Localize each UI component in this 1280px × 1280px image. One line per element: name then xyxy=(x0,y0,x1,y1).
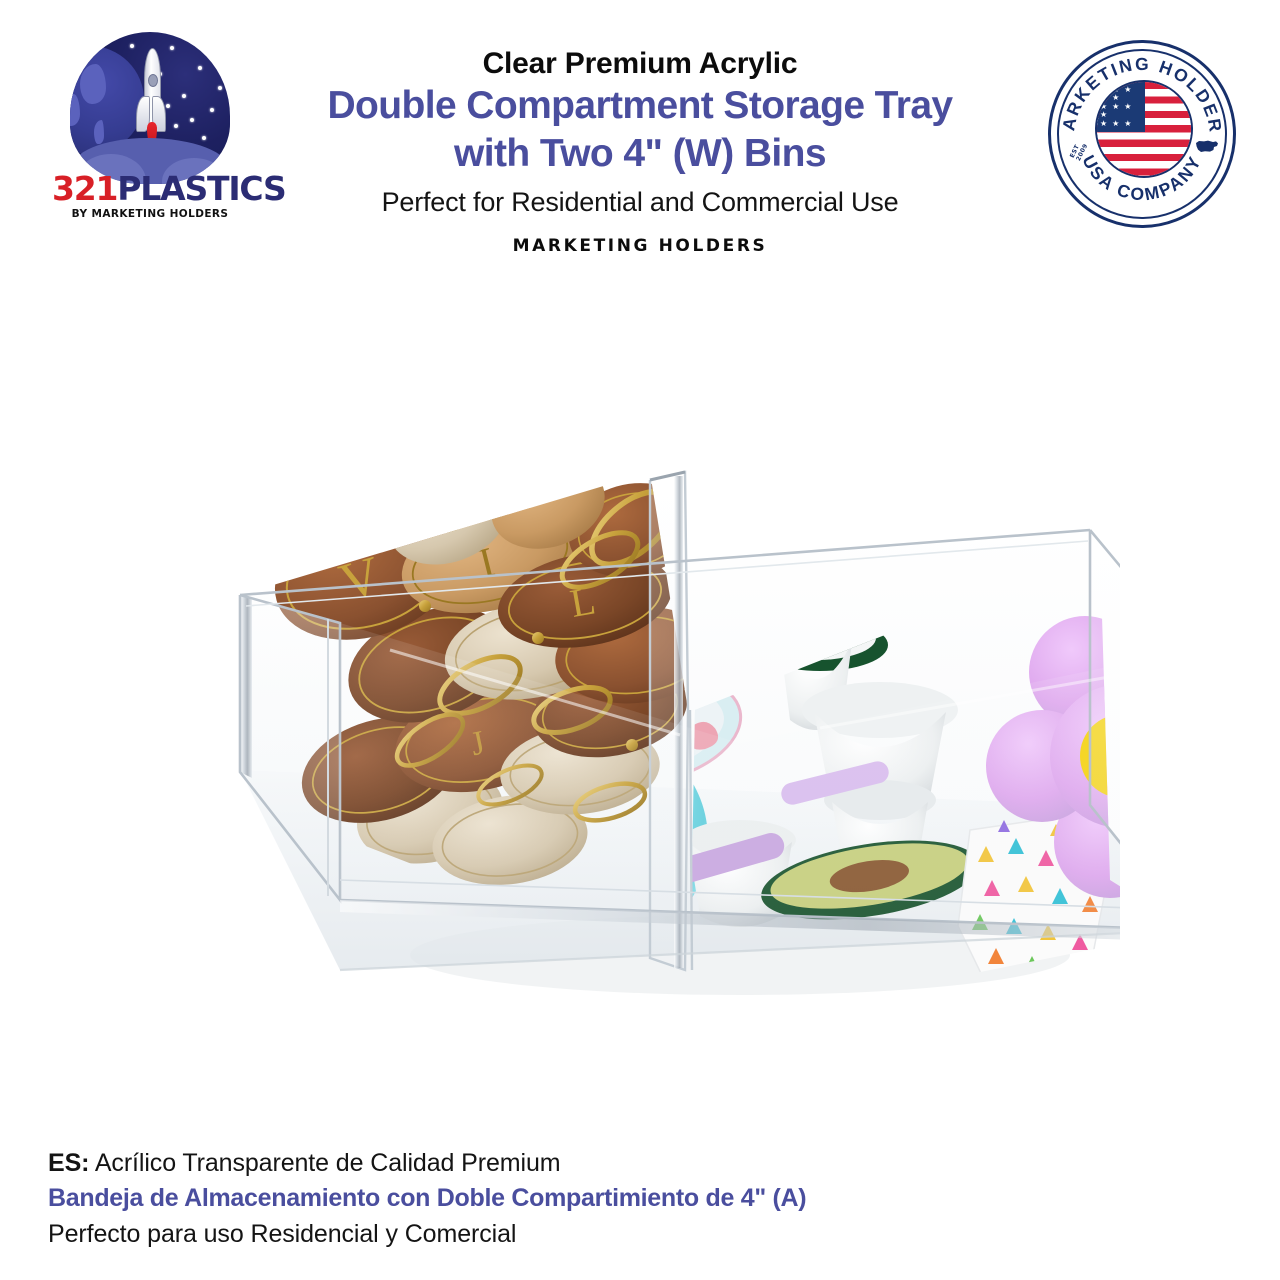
logo-wordmark: 321PLASTICS xyxy=(52,172,248,205)
usa-map-icon xyxy=(1195,139,1219,154)
es-line-1: ES: Acrílico Transparente de Calidad Pre… xyxy=(48,1146,1048,1182)
usa-company-seal: MARKETING HOLDERS USA COMPANY ★ ★ ★ ★ ★★… xyxy=(1048,40,1236,228)
es-line-1-text: Acrílico Transparente de Calidad Premium xyxy=(89,1149,560,1177)
headline-title-line1: Double Compartment Storage Tray xyxy=(270,83,1010,129)
headline-block: Clear Premium Acrylic Double Compartment… xyxy=(270,46,1010,256)
es-line-3: Perfecto para uso Residencial y Comercia… xyxy=(48,1217,1048,1253)
logo-number: 321 xyxy=(52,169,117,208)
headline-brand: MARKETING HOLDERS xyxy=(270,236,1010,256)
page-header: 321PLASTICS BY MARKETING HOLDERS Clear P… xyxy=(0,0,1280,280)
es-label: ES: xyxy=(48,1149,89,1177)
brand-logo-321plastics: 321PLASTICS BY MARKETING HOLDERS xyxy=(52,32,248,224)
headline-eyebrow: Clear Premium Acrylic xyxy=(270,46,1010,81)
usa-flag-icon: ★ ★ ★ ★ ★★ ★ ★ ★★ ★ ★ ★ ★★ ★ ★ ★★ ★ ★ ★ … xyxy=(1095,80,1193,178)
rocket-badge-icon xyxy=(70,32,230,184)
headline-title-line2: with Two 4" (W) Bins xyxy=(270,131,1010,177)
headline-subtitle: Perfect for Residential and Commercial U… xyxy=(270,186,1010,218)
logo-word: PLASTICS xyxy=(117,169,285,208)
es-line-2: Bandeja de Almacenamiento con Doble Comp… xyxy=(48,1181,1048,1217)
spanish-description-block: ES: Acrílico Transparente de Calidad Pre… xyxy=(48,1146,1048,1253)
acrylic-double-compartment-tray: J xyxy=(180,410,1120,1030)
logo-tagline: BY MARKETING HOLDERS xyxy=(52,208,248,220)
product-photo: J xyxy=(0,300,1280,1100)
